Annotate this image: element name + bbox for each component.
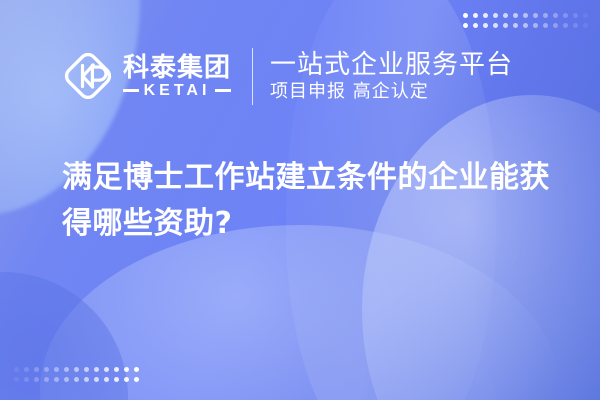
brand-name-cn: 科泰集团 <box>123 54 231 80</box>
decorative-dot <box>54 377 59 382</box>
decorative-dot <box>114 377 119 382</box>
decorative-dot <box>563 23 568 28</box>
decorative-dot <box>114 367 119 372</box>
decorative-dot <box>573 23 578 28</box>
decorative-dot <box>463 13 468 18</box>
decorative-dot <box>84 377 89 382</box>
dot-row <box>14 367 139 372</box>
decorative-dot <box>14 367 19 372</box>
decorative-dot <box>84 367 89 372</box>
decorative-dot <box>523 13 528 18</box>
decorative-dot <box>543 13 548 18</box>
decorative-dot <box>573 13 578 18</box>
decorative-dot <box>134 377 139 382</box>
decorative-dot <box>503 13 508 18</box>
tagline-primary: 一站式企业服务平台 <box>270 51 513 79</box>
decorative-dot <box>553 23 558 28</box>
decorative-dot <box>553 13 558 18</box>
decorative-dot <box>104 367 109 372</box>
decorative-dot <box>104 377 109 382</box>
dot-grid-bottom-left <box>14 367 139 382</box>
decorative-dot <box>503 23 508 28</box>
decorative-dot <box>533 13 538 18</box>
decorative-dot <box>563 13 568 18</box>
background-blob-right <box>362 95 600 400</box>
decorative-dot <box>483 13 488 18</box>
decorative-dot <box>124 377 129 382</box>
tagline-block: 一站式企业服务平台 项目申报 高企认定 <box>270 51 513 102</box>
decorative-dot <box>64 367 69 372</box>
dot-grid-top-right <box>463 13 588 28</box>
decorative-dot <box>513 13 518 18</box>
decorative-dot <box>94 367 99 372</box>
wordmark-dash-left <box>123 89 139 92</box>
decorative-dot <box>94 377 99 382</box>
decorative-dot <box>493 13 498 18</box>
decorative-dot <box>34 377 39 382</box>
decorative-dot <box>64 377 69 382</box>
decorative-dot <box>134 367 139 372</box>
decorative-dot <box>34 367 39 372</box>
dot-row <box>463 23 588 28</box>
decorative-dot <box>523 23 528 28</box>
decorative-dot <box>14 377 19 382</box>
decorative-dot <box>74 377 79 382</box>
decorative-dot <box>74 367 79 372</box>
decorative-dot <box>583 13 588 18</box>
dot-row <box>14 377 139 382</box>
ketai-diamond-kp-logo-icon <box>62 50 114 102</box>
decorative-dot <box>493 23 498 28</box>
brand-name-en-row: KETAI <box>123 83 231 99</box>
decorative-dot <box>44 377 49 382</box>
decorative-dot <box>483 23 488 28</box>
brand-name-en: KETAI <box>144 83 211 99</box>
decorative-dot <box>124 367 129 372</box>
decorative-dot <box>473 13 478 18</box>
decorative-dot <box>473 23 478 28</box>
decorative-dot <box>54 367 59 372</box>
promo-banner: 科泰集团 KETAI 一站式企业服务平台 项目申报 高企认定 满足博士工作站建立… <box>0 0 600 400</box>
brand-wordmark: 科泰集团 KETAI <box>123 54 231 99</box>
tagline-secondary: 项目申报 高企认定 <box>270 82 513 102</box>
banner-header: 科泰集团 KETAI 一站式企业服务平台 项目申报 高企认定 <box>62 45 513 107</box>
decorative-dot <box>583 23 588 28</box>
header-divider <box>252 48 253 105</box>
decorative-dot <box>513 23 518 28</box>
decorative-dot <box>44 367 49 372</box>
headline-text: 满足博士工作站建立条件的企业能获得哪些资助? <box>62 155 562 246</box>
wordmark-dash-right <box>215 89 231 92</box>
brand-logo[interactable]: 科泰集团 KETAI <box>62 50 231 102</box>
decorative-dot <box>24 377 29 382</box>
decorative-dot <box>533 23 538 28</box>
decorative-dot <box>24 367 29 372</box>
dot-row <box>463 13 588 18</box>
decorative-dot <box>463 23 468 28</box>
decorative-dot <box>543 23 548 28</box>
